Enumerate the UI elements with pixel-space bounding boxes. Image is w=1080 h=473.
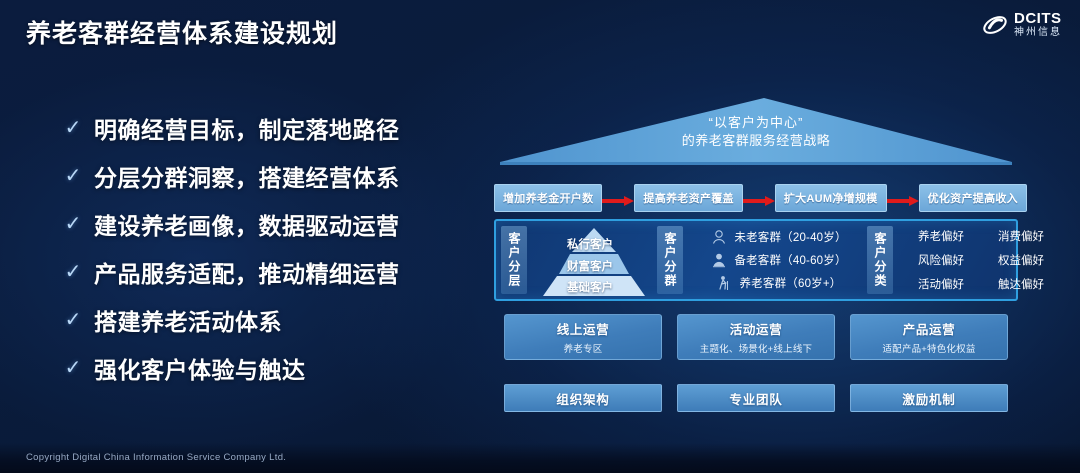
arrow-right-icon [887,193,919,203]
foundation-card-team[interactable]: 专业团队 [677,384,835,412]
check-icon: ✓ [64,262,82,282]
ops-card-subtitle: 主题化、场景化+线上线下 [700,341,812,355]
group-vertical-label: 客户分群 [657,226,683,294]
kpi-chip-1[interactable]: 增加养老金开户数 [494,184,602,212]
key-points-list: ✓ 明确经营目标，制定落地路径 ✓ 分层分群洞察，搭建经营体系 ✓ 建设养老画像… [64,104,464,392]
list-item: ✓ 强化客户体验与触达 [64,344,464,392]
customer-group-list: 未老客群（20-40岁） 备老客群（40-60岁） [683,226,867,294]
operations-card-row: 线上运营 养老专区 活动运营 主题化、场景化+线上线下 产品运营 适配产品+特色… [504,314,1008,360]
roof-line-1: “以客户为中心” [496,114,1016,132]
dcits-swirl-icon [982,12,1008,38]
list-item: ✓ 明确经营目标，制定落地路径 [64,104,464,152]
ops-card-title: 线上运营 [557,319,609,338]
list-item: 备老客群（40-60岁） [711,252,846,268]
foundation-card-org[interactable]: 组织架构 [504,384,662,412]
list-item: 未老客群（20-40岁） [711,229,846,245]
logo-en-text: DCITS [1014,11,1062,26]
page-header: 养老客群经营体系建设规划 DCITS 神州信息 [0,0,1080,60]
preference-tag: 活动偏好 [901,276,981,292]
list-item: ✓ 分层分群洞察，搭建经营体系 [64,152,464,200]
list-item-label: 搭建养老活动体系 [94,303,282,337]
group-label: 养老客群（60岁+） [739,275,841,291]
list-item: ✓ 产品服务适配，推动精细运营 [64,248,464,296]
logo-wordmark: DCITS 神州信息 [1014,11,1062,38]
ops-card-title: 产品运营 [903,319,955,338]
list-item-label: 产品服务适配，推动精细运营 [94,255,400,289]
check-icon: ✓ [64,118,82,138]
ops-card-title: 活动运营 [730,319,782,338]
list-item: ✓ 搭建养老活动体系 [64,296,464,344]
tier-pyramid: 私行客户 财富客户 基础客户 [527,226,657,294]
category-vertical-label: 客户分类 [867,226,893,294]
list-item-label: 建设养老画像，数据驱动运营 [94,207,400,241]
ops-card-product[interactable]: 产品运营 适配产品+特色化权益 [850,314,1008,360]
arrow-right-icon [602,193,634,203]
young-person-icon [711,229,727,245]
brand-logo: DCITS 神州信息 [982,11,1062,38]
ops-card-activity[interactable]: 活动运营 主题化、场景化+线上线下 [677,314,835,360]
table-row: 养老偏好 消费偏好 [901,228,1061,244]
kpi-chip-2[interactable]: 提高养老资产覆盖 [634,184,742,212]
preference-tag: 触达偏好 [981,276,1061,292]
table-row: 活动偏好 触达偏好 [901,276,1061,292]
group-label: 未老客群（20-40岁） [734,229,846,245]
kpi-chain: 增加养老金开户数 提高养老资产覆盖 扩大AUM净增规模 优化资产提高收入 [494,184,1018,212]
foundation-card-incentive[interactable]: 激励机制 [850,384,1008,412]
check-icon: ✓ [64,166,82,186]
tier-level-2: 财富客户 [527,258,653,274]
roof-line-2: 的养老客群服务经营战略 [496,132,1016,150]
preference-tag: 养老偏好 [901,228,981,244]
kpi-chip-4[interactable]: 优化资产提高收入 [919,184,1027,212]
page-title: 养老客群经营体系建设规划 [26,14,338,50]
foundation-card-row: 组织架构 专业团队 激励机制 [504,384,1008,412]
list-item-label: 明确经营目标，制定落地路径 [94,111,400,145]
tier-vertical-label: 客户分层 [501,226,527,294]
preference-tag: 消费偏好 [981,228,1061,244]
tier-level-3: 基础客户 [527,279,653,295]
ops-card-subtitle: 适配产品+特色化权益 [882,341,975,355]
ops-card-online[interactable]: 线上运营 养老专区 [504,314,662,360]
kpi-chip-3[interactable]: 扩大AUM净增规模 [775,184,887,212]
table-row: 风险偏好 权益偏好 [901,252,1061,268]
ops-card-subtitle: 养老专区 [564,341,603,355]
strategy-diagram: “以客户为中心” 的养老客群服务经营战略 增加养老金开户数 提高养老资产覆盖 扩… [490,92,1030,432]
logo-cn-text: 神州信息 [1014,28,1062,38]
customer-segmentation-panel: 客户分层 私行客户 财富客户 基础客户 客户分群 [494,219,1018,301]
check-icon: ✓ [64,310,82,330]
check-icon: ✓ [64,358,82,378]
preference-tag: 风险偏好 [901,252,981,268]
group-label: 备老客群（40-60岁） [734,252,846,268]
page-footer: Copyright Digital China Information Serv… [0,443,1080,473]
tier-level-1: 私行客户 [527,236,653,252]
list-item: ✓ 建设养老画像，数据驱动运营 [64,200,464,248]
elderly-person-icon [716,275,732,291]
copyright-text: Copyright Digital China Information Serv… [26,452,286,463]
preference-tag: 权益偏好 [981,252,1061,268]
preference-tag-grid: 养老偏好 消费偏好 风险偏好 权益偏好 活动偏好 触达偏好 [893,226,1061,294]
list-item-label: 分层分群洞察，搭建经营体系 [94,159,400,193]
roof-label: “以客户为中心” 的养老客群服务经营战略 [496,114,1016,149]
middle-aged-person-icon [711,252,727,268]
list-item: 养老客群（60岁+） [716,275,841,291]
list-item-label: 强化客户体验与触达 [94,351,306,385]
arrow-right-icon [743,193,775,203]
check-icon: ✓ [64,214,82,234]
strategy-roof: “以客户为中心” 的养老客群服务经营战略 [496,92,1016,170]
